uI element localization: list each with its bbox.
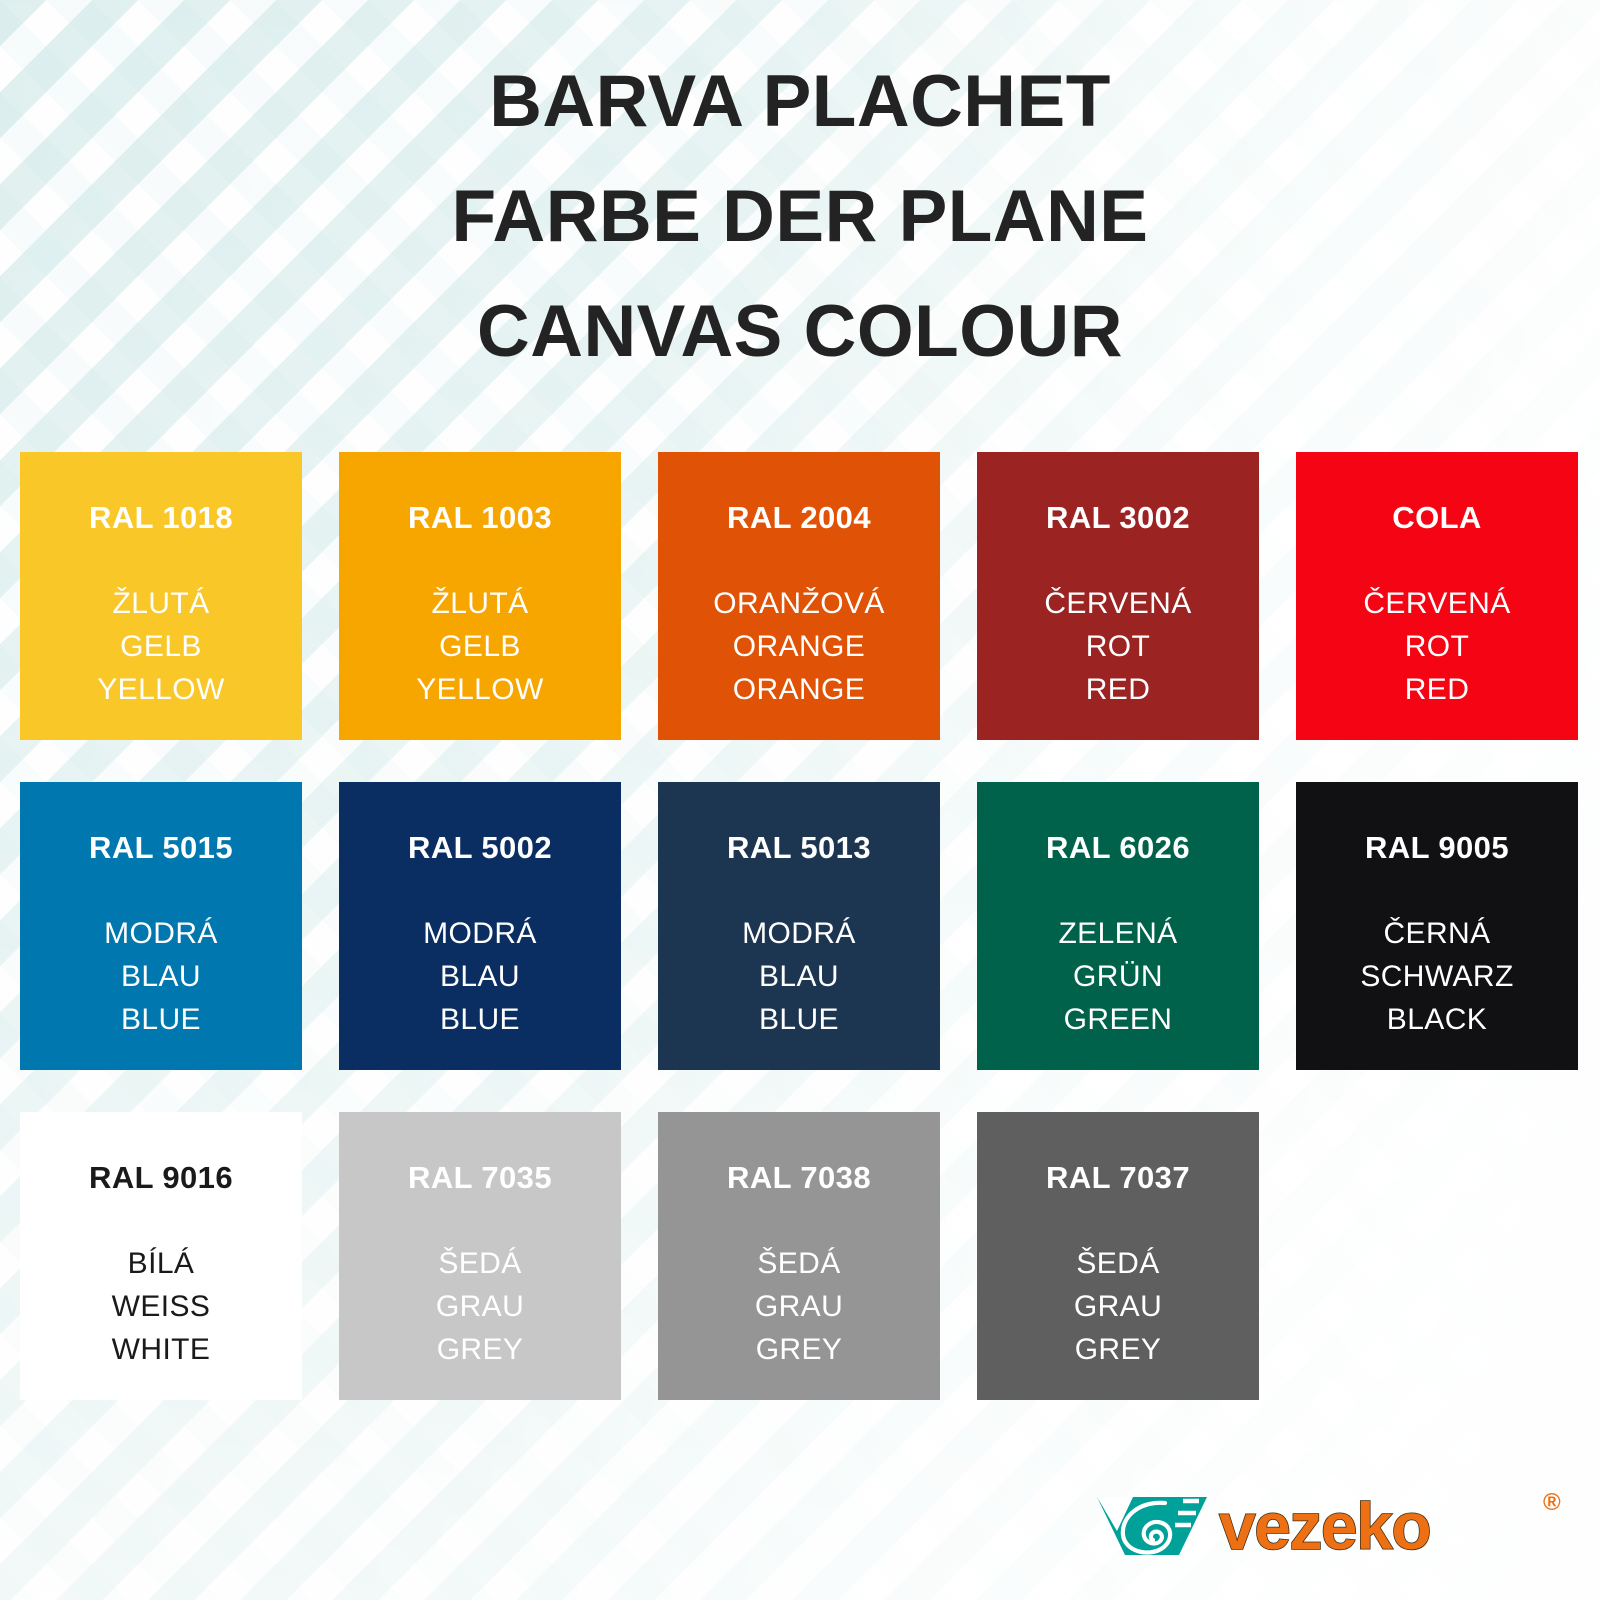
- swatch-name-english: BLUE: [742, 998, 856, 1041]
- swatch-name-german: GELB: [416, 625, 543, 668]
- swatch-name-english: GREY: [755, 1328, 843, 1371]
- swatch-code: RAL 9016: [89, 1160, 233, 1196]
- swatch-names: ŠEDÁGRAUGREY: [755, 1242, 843, 1371]
- swatch-name-german: GRAU: [755, 1285, 843, 1328]
- infographic-page: BARVA PLACHET FARBE DER PLANE CANVAS COL…: [0, 0, 1600, 1600]
- colour-swatch[interactable]: RAL 9005ČERNÁSCHWARZBLACK: [1296, 782, 1578, 1070]
- swatch-names: ORANŽOVÁORANGEORANGE: [713, 582, 885, 711]
- registered-trademark-symbol: ®: [1543, 1489, 1561, 1517]
- swatch-name-english: WHITE: [112, 1328, 211, 1371]
- swatch-name-czech: ČERVENÁ: [1363, 582, 1510, 625]
- swatch-name-english: YELLOW: [416, 668, 543, 711]
- swatch-name-english: GREEN: [1058, 998, 1177, 1041]
- swatch-names: ČERVENÁROTRED: [1363, 582, 1510, 711]
- colour-swatch[interactable]: RAL 3002ČERVENÁROTRED: [977, 452, 1259, 740]
- swatch-name-czech: ČERNÁ: [1360, 912, 1513, 955]
- swatch-name-czech: BÍLÁ: [112, 1242, 211, 1285]
- swatch-name-czech: ŽLUTÁ: [416, 582, 543, 625]
- empty-grid-cell: [1296, 1112, 1578, 1400]
- swatch-name-english: GREY: [1074, 1328, 1162, 1371]
- swatch-code: COLA: [1392, 500, 1481, 536]
- colour-swatch[interactable]: RAL 5015MODRÁBLAUBLUE: [20, 782, 302, 1070]
- colour-swatch[interactable]: RAL 7038ŠEDÁGRAUGREY: [658, 1112, 940, 1400]
- swatch-name-czech: ŽLUTÁ: [97, 582, 224, 625]
- swatch-code: RAL 1003: [408, 500, 552, 536]
- swatch-name-german: ROT: [1044, 625, 1191, 668]
- swatch-name-czech: MODRÁ: [104, 912, 218, 955]
- vezeko-wordmark: vezeko: [1219, 1493, 1430, 1559]
- colour-swatch[interactable]: RAL 2004ORANŽOVÁORANGEORANGE: [658, 452, 940, 740]
- swatch-name-czech: MODRÁ: [423, 912, 537, 955]
- swatch-name-english: BLACK: [1360, 998, 1513, 1041]
- page-title: BARVA PLACHET FARBE DER PLANE CANVAS COL…: [0, 44, 1600, 389]
- swatch-name-german: BLAU: [742, 955, 856, 998]
- swatch-names: ČERNÁSCHWARZBLACK: [1360, 912, 1513, 1041]
- swatch-name-german: GRÜN: [1058, 955, 1177, 998]
- swatch-names: MODRÁBLAUBLUE: [423, 912, 537, 1041]
- swatch-name-czech: ŠEDÁ: [436, 1242, 524, 1285]
- swatch-code: RAL 5015: [89, 830, 233, 866]
- swatch-code: RAL 6026: [1046, 830, 1190, 866]
- swatch-names: ZELENÁGRÜNGREEN: [1058, 912, 1177, 1041]
- swatch-code: RAL 5013: [727, 830, 871, 866]
- swatch-code: RAL 2004: [727, 500, 871, 536]
- swatch-names: ŽLUTÁGELBYELLOW: [416, 582, 543, 711]
- swatch-name-german: BLAU: [104, 955, 218, 998]
- swatch-name-german: ORANGE: [713, 625, 885, 668]
- colour-swatch[interactable]: RAL 6026ZELENÁGRÜNGREEN: [977, 782, 1259, 1070]
- vezeko-spiral-mark-icon: [1095, 1493, 1215, 1559]
- swatch-name-german: GELB: [97, 625, 224, 668]
- swatch-code: RAL 7035: [408, 1160, 552, 1196]
- title-line-german: FARBE DER PLANE: [0, 159, 1600, 274]
- swatch-name-english: BLUE: [423, 998, 537, 1041]
- title-line-czech: BARVA PLACHET: [0, 44, 1600, 159]
- swatch-names: ČERVENÁROTRED: [1044, 582, 1191, 711]
- colour-swatch[interactable]: RAL 5013MODRÁBLAUBLUE: [658, 782, 940, 1070]
- colour-swatch[interactable]: RAL 5002MODRÁBLAUBLUE: [339, 782, 621, 1070]
- swatch-names: MODRÁBLAUBLUE: [104, 912, 218, 1041]
- swatch-name-english: ORANGE: [713, 668, 885, 711]
- swatch-name-english: GREY: [436, 1328, 524, 1371]
- swatch-names: MODRÁBLAUBLUE: [742, 912, 856, 1041]
- colour-swatch[interactable]: RAL 7037ŠEDÁGRAUGREY: [977, 1112, 1259, 1400]
- swatch-code: RAL 9005: [1365, 830, 1509, 866]
- swatch-names: ŽLUTÁGELBYELLOW: [97, 582, 224, 711]
- swatch-code: RAL 5002: [408, 830, 552, 866]
- swatch-name-czech: ČERVENÁ: [1044, 582, 1191, 625]
- swatch-name-czech: ŠEDÁ: [755, 1242, 843, 1285]
- vezeko-logo[interactable]: vezeko: [1095, 1487, 1565, 1565]
- colour-swatch[interactable]: COLAČERVENÁROTRED: [1296, 452, 1578, 740]
- swatch-name-german: ROT: [1363, 625, 1510, 668]
- swatch-name-english: RED: [1044, 668, 1191, 711]
- swatch-name-english: RED: [1363, 668, 1510, 711]
- colour-swatch-grid: RAL 1018ŽLUTÁGELBYELLOWRAL 1003ŽLUTÁGELB…: [20, 452, 1580, 1400]
- swatch-names: ŠEDÁGRAUGREY: [436, 1242, 524, 1371]
- swatch-name-german: SCHWARZ: [1360, 955, 1513, 998]
- swatch-code: RAL 7038: [727, 1160, 871, 1196]
- swatch-code: RAL 7037: [1046, 1160, 1190, 1196]
- swatch-name-czech: ORANŽOVÁ: [713, 582, 885, 625]
- swatch-names: BÍLÁWEISSWHITE: [112, 1242, 211, 1371]
- colour-swatch[interactable]: RAL 7035ŠEDÁGRAUGREY: [339, 1112, 621, 1400]
- title-line-english: CANVAS COLOUR: [0, 274, 1600, 389]
- swatch-name-czech: MODRÁ: [742, 912, 856, 955]
- swatch-name-german: GRAU: [436, 1285, 524, 1328]
- swatch-code: RAL 3002: [1046, 500, 1190, 536]
- swatch-name-german: WEISS: [112, 1285, 211, 1328]
- swatch-name-czech: ŠEDÁ: [1074, 1242, 1162, 1285]
- swatch-name-english: YELLOW: [97, 668, 224, 711]
- swatch-name-czech: ZELENÁ: [1058, 912, 1177, 955]
- colour-swatch[interactable]: RAL 9016BÍLÁWEISSWHITE: [20, 1112, 302, 1400]
- colour-swatch[interactable]: RAL 1018ŽLUTÁGELBYELLOW: [20, 452, 302, 740]
- colour-swatch[interactable]: RAL 1003ŽLUTÁGELBYELLOW: [339, 452, 621, 740]
- swatch-code: RAL 1018: [89, 500, 233, 536]
- swatch-name-german: BLAU: [423, 955, 537, 998]
- swatch-name-german: GRAU: [1074, 1285, 1162, 1328]
- swatch-names: ŠEDÁGRAUGREY: [1074, 1242, 1162, 1371]
- swatch-name-english: BLUE: [104, 998, 218, 1041]
